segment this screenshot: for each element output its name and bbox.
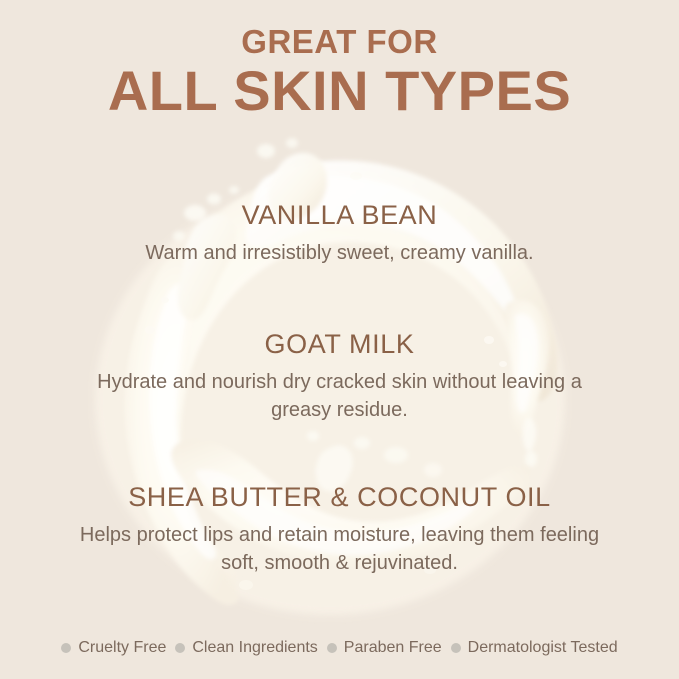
claims-row: Cruelty Free Clean Ingredients Paraben F… <box>0 639 679 657</box>
bullet-icon <box>451 643 461 653</box>
ingredient-title: VANILLA BEAN <box>0 200 679 231</box>
ingredient-list: VANILLA BEAN Warm and irresistibly sweet… <box>0 200 679 577</box>
claim-label: Dermatologist Tested <box>468 639 618 657</box>
claim-label: Cruelty Free <box>78 639 166 657</box>
ingredient-goat-milk: GOAT MILK Hydrate and nourish dry cracke… <box>0 329 679 424</box>
ingredient-vanilla-bean: VANILLA BEAN Warm and irresistibly sweet… <box>0 200 679 267</box>
ingredient-shea-butter-coconut-oil: SHEA BUTTER & COCONUT OIL Helps protect … <box>0 482 679 577</box>
claim-clean-ingredients: Clean Ingredients <box>166 639 317 657</box>
ingredient-description: Warm and irresistibly sweet, creamy vani… <box>80 239 600 267</box>
page-title: ALL SKIN TYPES <box>0 62 679 121</box>
ingredient-description: Hydrate and nourish dry cracked skin wit… <box>80 368 600 424</box>
bullet-icon <box>61 643 71 653</box>
bullet-icon <box>327 643 337 653</box>
claim-label: Clean Ingredients <box>192 639 317 657</box>
headline-block: GREAT FOR ALL SKIN TYPES <box>0 24 679 120</box>
eyebrow-text: GREAT FOR <box>0 24 679 60</box>
claim-dermatologist-tested: Dermatologist Tested <box>442 639 618 657</box>
ingredient-title: SHEA BUTTER & COCONUT OIL <box>0 482 679 513</box>
ingredient-title: GOAT MILK <box>0 329 679 360</box>
claim-cruelty-free: Cruelty Free <box>61 639 166 657</box>
bullet-icon <box>175 643 185 653</box>
product-benefits-card: GREAT FOR ALL SKIN TYPES VANILLA BEAN Wa… <box>0 0 679 679</box>
ingredient-description: Helps protect lips and retain moisture, … <box>80 521 600 577</box>
claim-label: Paraben Free <box>344 639 442 657</box>
claim-paraben-free: Paraben Free <box>318 639 442 657</box>
